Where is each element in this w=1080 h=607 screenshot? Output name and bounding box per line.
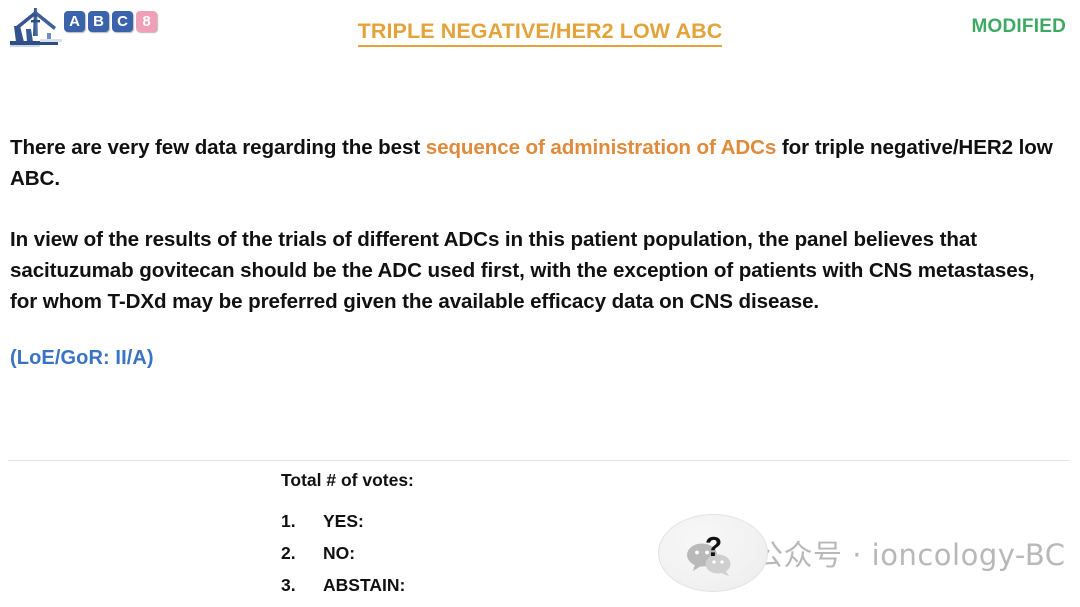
- vote-option-number: 1.: [281, 511, 323, 532]
- status-badge: MODIFIED: [972, 16, 1067, 38]
- vote-option-yes[interactable]: 1. YES:: [281, 511, 701, 532]
- paragraph-1-part-1: There are very few data regarding the be…: [10, 136, 426, 159]
- slide-body: There are very few data regarding the be…: [0, 132, 1080, 370]
- vote-option-no[interactable]: 2. NO:: [281, 543, 701, 564]
- paragraph-2: In view of the results of the trials of …: [0, 224, 1080, 317]
- watermark: ? 公众号 · ioncology-BC: [658, 511, 1078, 595]
- vote-option-label: ABSTAIN:: [323, 575, 405, 596]
- watermark-text: 公众号 · ioncology-BC: [754, 532, 1065, 574]
- slide-header: A B C 8 TRIPLE NEGATIVE/HER2 LOW ABC MOD…: [0, 0, 1080, 58]
- page-title-text: TRIPLE NEGATIVE/HER2 LOW ABC: [358, 19, 723, 47]
- loe-gor-line: (LoE/GoR: II/A): [0, 347, 1080, 370]
- paragraph-1: There are very few data regarding the be…: [0, 132, 1080, 194]
- section-divider: [8, 460, 1070, 461]
- vote-option-abstain[interactable]: 3. ABSTAIN:: [281, 575, 701, 596]
- watermark-question-glyph: ?: [705, 533, 722, 561]
- vote-option-label: YES:: [323, 511, 364, 532]
- vote-option-number: 3.: [281, 575, 323, 596]
- page-title: TRIPLE NEGATIVE/HER2 LOW ABC: [0, 19, 1080, 44]
- vote-block: Total # of votes: 1. YES: 2. NO: 3. ABST…: [281, 470, 701, 607]
- vote-option-label: NO:: [323, 543, 355, 564]
- vote-option-number: 2.: [281, 543, 323, 564]
- paragraph-1-highlight: sequence of administration of ADCs: [426, 136, 777, 159]
- vote-total-label: Total # of votes:: [281, 470, 701, 491]
